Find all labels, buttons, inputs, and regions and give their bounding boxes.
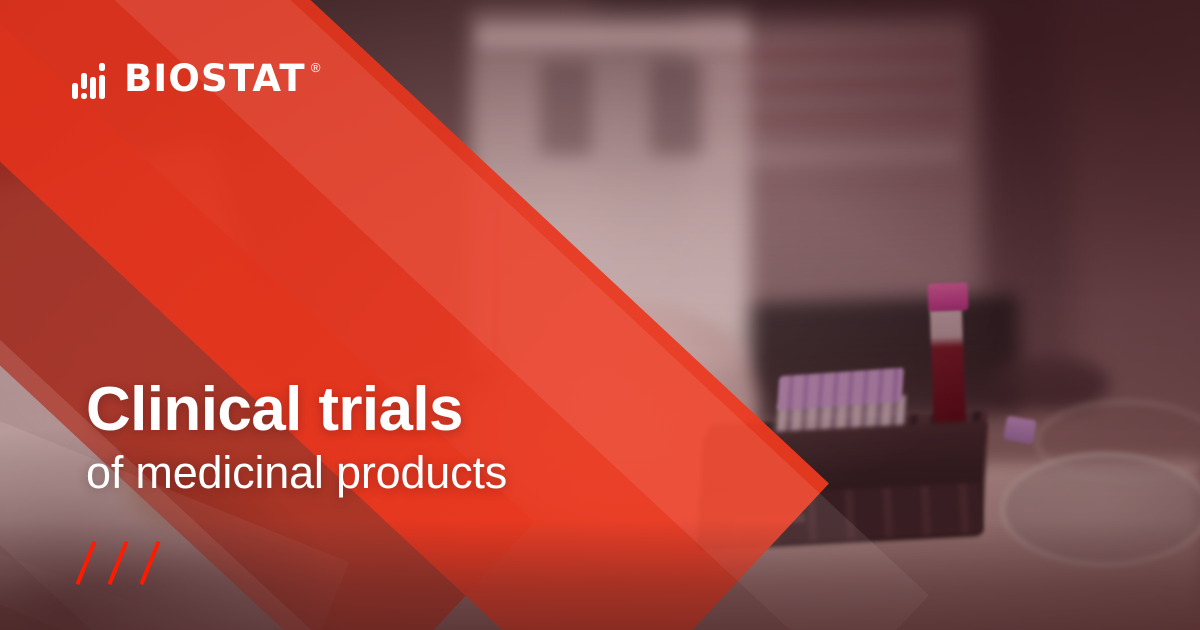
logo-wordmark: BIOSTAT — [124, 60, 306, 97]
biostat-hero-banner: BIOSTAT ® Clinical trials of medicinal p… — [0, 0, 1200, 630]
slash-accent-group — [84, 540, 152, 586]
headline-block: Clinical trials of medicinal products — [86, 378, 507, 496]
slash-accent-icon — [108, 541, 129, 585]
registered-trademark-icon: ® — [311, 61, 321, 74]
headline-secondary: of medicinal products — [86, 449, 507, 496]
logo-wordmark-wrap: BIOSTAT ® — [124, 60, 320, 97]
biostat-logo[interactable]: BIOSTAT ® — [72, 60, 320, 99]
bar-chart-icon — [72, 63, 112, 99]
headline-primary: Clinical trials — [86, 378, 507, 441]
